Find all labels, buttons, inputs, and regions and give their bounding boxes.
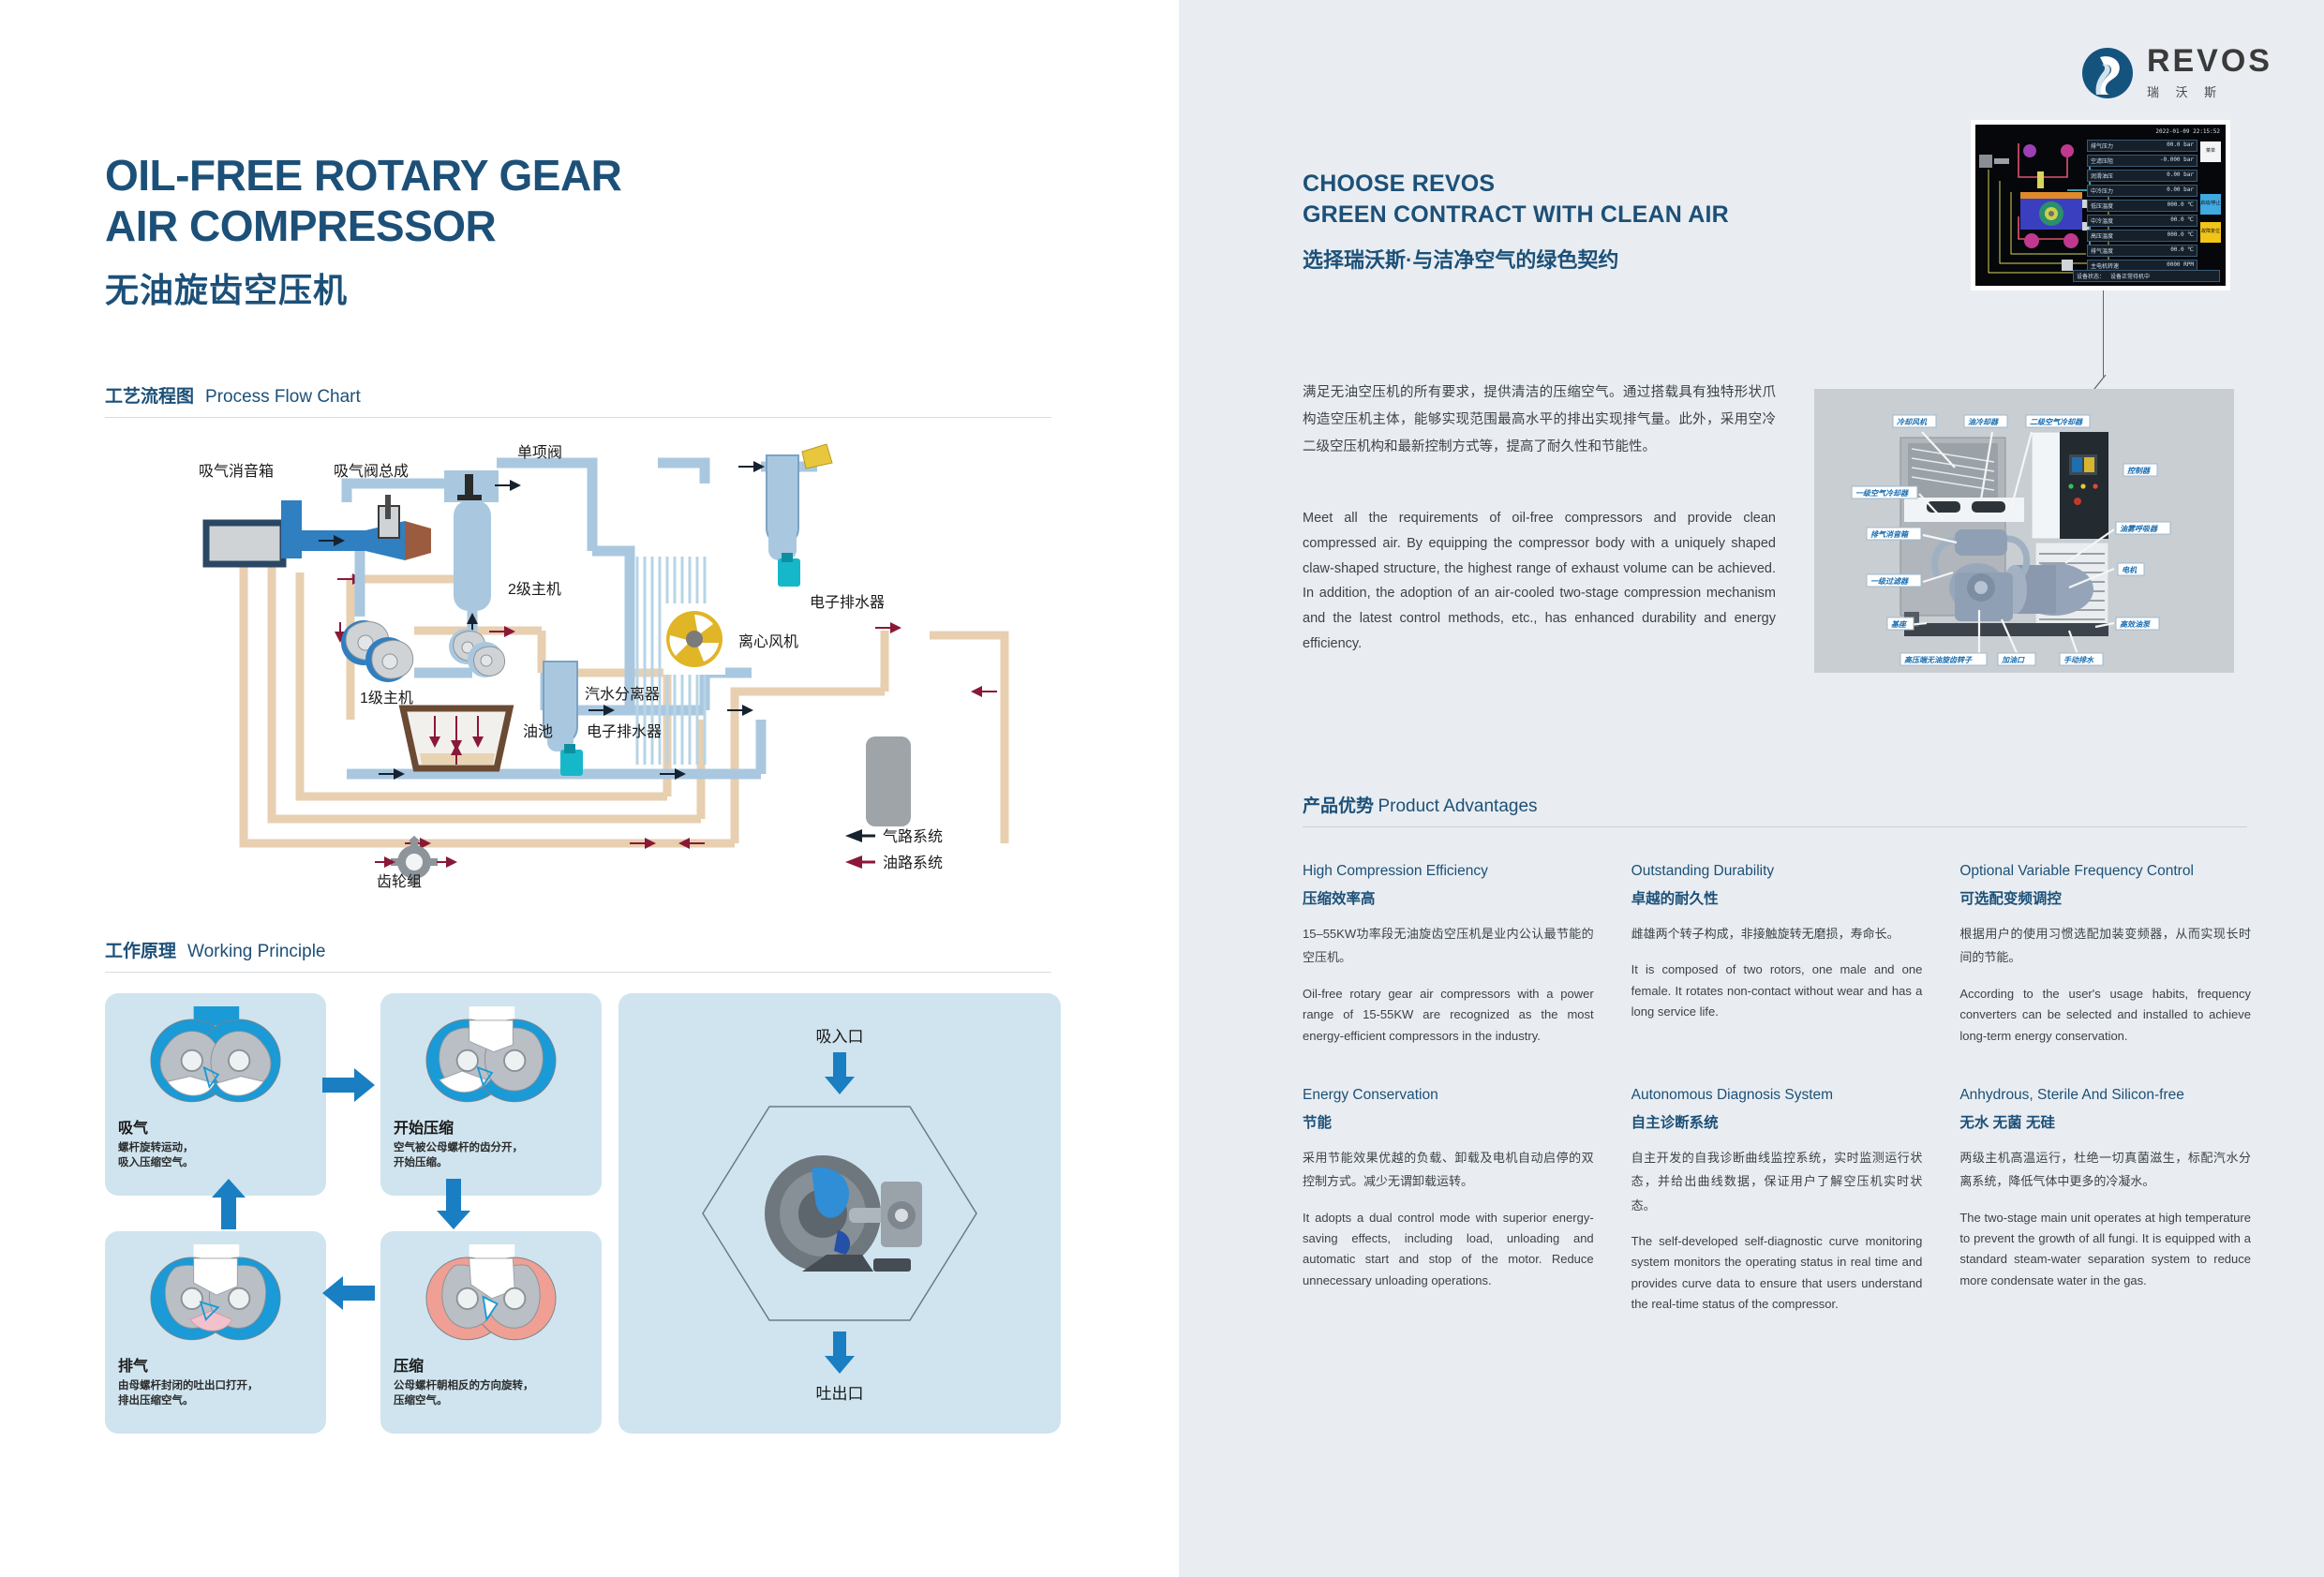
svg-text:高效油泵: 高效油泵: [2120, 620, 2152, 629]
legend-air-label: 气路系统: [883, 828, 943, 845]
advantage-title-en: High Compression Efficiency: [1303, 862, 1594, 881]
advantages-title-cn: 产品优势: [1303, 796, 1374, 816]
advantage-title-en: Optional Variable Frequency Control: [1959, 862, 2251, 881]
svg-text:排气消音箱: 排气消音箱: [1870, 530, 1910, 539]
advantage-item: Anhydrous, Sterile And Silicon-free 无水 无…: [1959, 1086, 2251, 1316]
wp-outlet-label: 吐出口: [816, 1380, 864, 1404]
advantages-grid: High Compression Efficiency 压缩效率高 15–55K…: [1303, 862, 2251, 1316]
wp-card-desc-2: 开始压缩。: [394, 1155, 448, 1170]
svg-text:一级空气冷却器: 一级空气冷却器: [1855, 489, 1909, 498]
advantage-title-cn: 节能: [1303, 1111, 1594, 1132]
svg-text:基座: 基座: [1891, 620, 1908, 629]
logo-wordmark: REVOS: [2147, 45, 2272, 77]
arrow-down-icon: [824, 1332, 856, 1375]
advantage-body-cn: 采用节能效果优越的负载、卸载及电机自动启停的双控制方式。减少无谓卸载运转。: [1303, 1146, 1594, 1194]
advantage-item: Energy Conservation 节能 采用节能效果优越的负载、卸载及电机…: [1303, 1086, 1594, 1316]
advantage-title-cn: 无水 无菌 无硅: [1959, 1111, 2251, 1132]
wp-card-desc-1: 公母螺杆朝相反的方向旋转，: [394, 1378, 534, 1393]
right-headline-en-2: GREEN CONTRACT WITH CLEAN AIR: [1303, 200, 1729, 231]
svg-text:加油口: 加油口: [2001, 656, 2025, 664]
arrow-right-icon: [322, 1066, 379, 1104]
wp-card-desc-1: 由母螺杆封闭的吐出口打开，: [118, 1378, 259, 1393]
wp-card-desc-2: 吸入压缩空气。: [118, 1155, 194, 1170]
advantage-title-en: Anhydrous, Sterile And Silicon-free: [1959, 1086, 2251, 1105]
hmi-button-start-stop[interactable]: 启动/停止: [2200, 194, 2221, 215]
page-title: OIL-FREE ROTARY GEAR AIR COMPRESSOR 无油旋齿…: [105, 150, 621, 312]
hmi-button-reset[interactable]: 故障复位: [2200, 222, 2221, 243]
section-divider: [105, 972, 1051, 973]
flow-section-title-en: Process Flow Chart: [205, 387, 361, 408]
advantage-item: Optional Variable Frequency Control 可选配变…: [1959, 862, 2251, 1047]
wp-pump-panel: 吸入口: [618, 993, 1061, 1434]
hmi-button-menu[interactable]: 菜单: [2200, 141, 2221, 162]
flow-svg: 吸气消音箱 吸气阀总成 单项阀 汽水分离器 电子排水器 2级主机 1级主机 油池…: [105, 439, 1061, 898]
legend-oil-label: 油路系统: [883, 855, 943, 871]
hmi-datetime: 2022-01-09 22:15:52: [2155, 128, 2220, 135]
hmi-row: 低压温度000.0 ℃: [2087, 200, 2197, 212]
wp-card-title: 压缩: [394, 1353, 424, 1376]
advantages-title-en: Product Advantages: [1378, 796, 1537, 816]
advantage-body-en: The two-stage main unit operates at high…: [1959, 1208, 2251, 1291]
advantage-item: Autonomous Diagnosis System 自主诊断系统 自主开发的…: [1631, 1086, 1923, 1316]
advantage-body-cn: 雌雄两个转子构成，非接触旋转无磨损，寿命长。: [1631, 922, 1923, 945]
wp-rotor-diagram-intake: [118, 1006, 313, 1111]
wp-card-exhaust: 排气 由母螺杆封闭的吐出口打开， 排出压缩空气。: [105, 1231, 326, 1434]
section-divider: [1303, 826, 2247, 827]
advantage-body-en: According to the user's usage habits, fr…: [1959, 984, 2251, 1047]
page-gutter: [1171, 0, 1179, 1577]
wp-card-desc-1: 螺杆旋转运动，: [118, 1140, 194, 1155]
svg-text:油雾呼吸器: 油雾呼吸器: [2120, 525, 2158, 533]
compressor-illustration: 冷却风机 油冷却器 二级空气冷却器 控制器 一级空气冷却器 排气消音箱 一级过滤…: [1814, 389, 2234, 673]
wp-card-desc-2: 压缩空气。: [394, 1393, 448, 1408]
wp-card-grid: 吸气 螺杆旋转运动， 吸入压缩空气。: [105, 993, 602, 1434]
left-page: OIL-FREE ROTARY GEAR AIR COMPRESSOR 无油旋齿…: [0, 0, 1171, 1577]
logo-wordmark-cn: 瑞 沃 斯: [2147, 82, 2272, 100]
section-divider: [105, 417, 1051, 418]
arrow-down-icon: [435, 1179, 472, 1231]
wp-section-title-cn: 工作原理: [105, 937, 176, 962]
right-headline: CHOOSE REVOS GREEN CONTRACT WITH CLEAN A…: [1303, 169, 1729, 274]
flow-label-stage2: 2级主机: [508, 581, 561, 598]
advantage-title-cn: 可选配变频调控: [1959, 887, 2251, 908]
intro-paragraph-cn: 满足无油空压机的所有要求，提供清洁的压缩空气。通过搭载具有独特形状爪构造空压机主…: [1303, 379, 1776, 461]
svg-text:电机: 电机: [2122, 566, 2138, 574]
right-page: REVOS 瑞 沃 斯 CHOOSE REVOS GREEN CONTRACT …: [1179, 0, 2324, 1577]
arrow-up-icon: [210, 1179, 247, 1231]
flow-label-gear-set: 齿轮组: [377, 873, 422, 890]
advantage-body-en: The self-developed self-diagnostic curve…: [1631, 1231, 1923, 1315]
hmi-status-bar: 设备状态： 设备正常待机中: [2073, 270, 2220, 282]
flow-label-intake-valve: 吸气阀总成: [334, 463, 409, 480]
svg-text:油冷却器: 油冷却器: [1968, 418, 1999, 426]
product-photo: 冷却风机 油冷却器 二级空气冷却器 控制器 一级空气冷却器 排气消音箱 一级过滤…: [1814, 389, 2234, 673]
intro-paragraph-en: Meet all the requirements of oil-free co…: [1303, 506, 1776, 657]
wp-card-title: 开始压缩: [394, 1115, 454, 1138]
flow-section-header: 工艺流程图 Process Flow Chart: [105, 382, 1061, 418]
flow-section-title-cn: 工艺流程图: [105, 382, 194, 408]
title-en-line1: OIL-FREE ROTARY GEAR: [105, 150, 621, 201]
advantages-section-header: 产品优势 Product Advantages: [1303, 792, 2249, 827]
hmi-row: 空滤压阻-0.000 bar: [2087, 155, 2197, 167]
wp-card-title: 吸气: [118, 1115, 148, 1138]
advantage-body-en: It adopts a dual control mode with super…: [1303, 1208, 1594, 1291]
hmi-row: 排气温度00.0 ℃: [2087, 245, 2197, 257]
svg-text:手动排水: 手动排水: [2063, 656, 2094, 664]
working-principle-panel: 吸气 螺杆旋转运动， 吸入压缩空气。: [105, 993, 1061, 1434]
hmi-row: 排气压力00.0 bar: [2087, 140, 2197, 152]
advantage-title-en: Energy Conservation: [1303, 1086, 1594, 1105]
advantage-title-en: Autonomous Diagnosis System: [1631, 1086, 1923, 1105]
flow-label-stage1: 1级主机: [360, 690, 413, 707]
brochure-spread: OIL-FREE ROTARY GEAR AIR COMPRESSOR 无油旋齿…: [0, 0, 2324, 1577]
advantage-title-cn: 压缩效率高: [1303, 887, 1594, 908]
right-headline-cn: 选择瑞沃斯·与洁净空气的绿色契约: [1303, 244, 1729, 274]
wp-card-title: 排气: [118, 1353, 148, 1376]
arrow-down-icon: [824, 1052, 856, 1095]
advantage-body-cn: 两级主机高温运行，杜绝一切真菌滋生，标配汽水分离系统，降低气体中更多的冷凝水。: [1959, 1146, 2251, 1194]
revos-mark-icon: [2081, 46, 2134, 100]
hmi-row: 中冷压力0.00 bar: [2087, 185, 2197, 197]
flow-label-intake-silencer: 吸气消音箱: [199, 463, 274, 480]
flow-label-drain-mid: 电子排水器: [587, 723, 662, 740]
svg-text:一级过滤器: 一级过滤器: [1870, 577, 1909, 586]
svg-text:冷却风机: 冷却风机: [1897, 418, 1928, 426]
advantage-body-cn: 根据用户的使用习惯选配加装变频器，从而实现长时间的节能。: [1959, 922, 2251, 970]
flow-label-separator-mid: 汽水分离器: [585, 686, 660, 703]
svg-text:二级空气冷却器: 二级空气冷却器: [2030, 418, 2083, 426]
title-en-line2: AIR COMPRESSOR: [105, 201, 621, 251]
wp-card-desc-1: 空气被公母螺杆的齿分开，: [394, 1140, 523, 1155]
arrow-left-icon: [322, 1274, 379, 1312]
advantage-item: Outstanding Durability 卓越的耐久性 雌雄两个转子构成，非…: [1631, 862, 1923, 1047]
advantage-item: High Compression Efficiency 压缩效率高 15–55K…: [1303, 862, 1594, 1047]
revos-logo: REVOS 瑞 沃 斯: [2081, 45, 2272, 100]
title-cn: 无油旋齿空压机: [105, 263, 621, 312]
flow-label-check-valve: 单项阀: [517, 444, 562, 461]
hmi-row: 中冷温度00.0 ℃: [2087, 215, 2197, 227]
flow-label-drain-top: 电子排水器: [810, 594, 885, 611]
advantage-title-cn: 自主诊断系统: [1631, 1111, 1923, 1132]
wp-inlet-label: 吸入口: [816, 1023, 864, 1047]
wp-card-intake: 吸气 螺杆旋转运动， 吸入压缩空气。: [105, 993, 326, 1196]
advantage-body-cn: 自主开发的自我诊断曲线监控系统，实时监测运行状态，并给出曲线数据，保证用户了解空…: [1631, 1146, 1923, 1217]
advantage-title-en: Outstanding Durability: [1631, 862, 1923, 881]
wp-card-desc-2: 排出压缩空气。: [118, 1393, 194, 1408]
wp-rotor-diagram-exhaust: [118, 1244, 313, 1349]
hmi-controller-screenshot: 2022-01-09 22:15:52: [1971, 120, 2230, 290]
advantage-body-en: Oil-free rotary gear air compressors wit…: [1303, 984, 1594, 1047]
wp-rotor-diagram-start: [394, 1006, 588, 1111]
wp-rotor-diagram-compress: [394, 1244, 588, 1349]
svg-text:控制器: 控制器: [2127, 467, 2151, 475]
right-headline-en-1: CHOOSE REVOS: [1303, 169, 1729, 200]
flow-label-oil-sump: 油池: [523, 723, 553, 740]
hmi-row: 高压温度000.0 ℃: [2087, 230, 2197, 242]
flow-label-separator-top: 汽水分离器: [740, 439, 815, 440]
wp-card-compression: 压缩 公母螺杆朝相反的方向旋转， 压缩空气。: [380, 1231, 602, 1434]
flow-legend: 气路系统 油路系统: [845, 828, 943, 871]
hmi-leader-line: [2103, 290, 2104, 377]
wp-hexagon-frame: [699, 1101, 980, 1326]
advantage-body-cn: 15–55KW功率段无油旋齿空压机是业内公认最节能的空压机。: [1303, 922, 1594, 970]
advantage-body-en: It is composed of two rotors, one male a…: [1631, 960, 1923, 1022]
hmi-status-value: 设备正常待机中: [2110, 272, 2150, 280]
svg-text:高压端无油旋齿转子: 高压端无油旋齿转子: [1904, 656, 1973, 664]
advantage-title-cn: 卓越的耐久性: [1631, 887, 1923, 908]
flow-label-centrifugal-fan: 离心风机: [738, 633, 798, 650]
process-flow-diagram: 吸气消音箱 吸气阀总成 单项阀 汽水分离器 电子排水器 2级主机 1级主机 油池…: [105, 439, 1061, 898]
wp-card-start-compression: 开始压缩 空气被公母螺杆的齿分开， 开始压缩。: [380, 993, 602, 1196]
hmi-row: 润滑油压0.00 bar: [2087, 170, 2197, 182]
wp-section-header: 工作原理 Working Principle: [105, 937, 1061, 973]
hmi-status-label: 设备状态：: [2077, 272, 2105, 280]
wp-section-title-en: Working Principle: [187, 942, 325, 962]
